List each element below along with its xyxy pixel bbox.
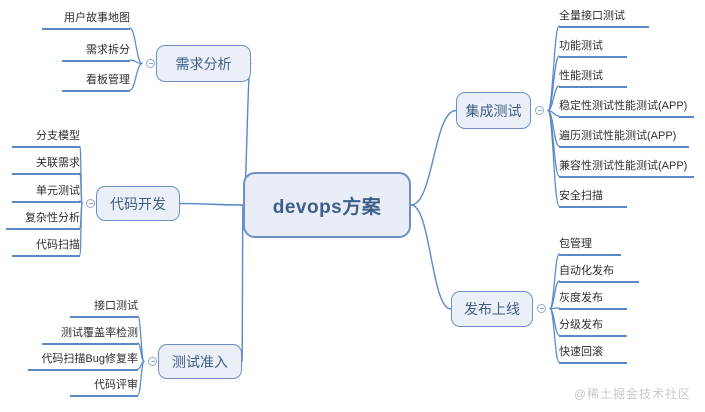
leaf-node-label: 灰度发布	[559, 292, 603, 304]
leaf-node-label: 关联需求	[36, 157, 80, 169]
leaf-node-label: 兼容性测试性能测试(APP)	[559, 160, 687, 172]
leaf-node[interactable]: 功能测试	[559, 40, 627, 58]
collapse-toggle-icon-1[interactable]	[146, 59, 155, 68]
collapse-toggle-icon-4[interactable]	[535, 106, 544, 115]
collapse-toggle-icon-5[interactable]	[537, 304, 546, 313]
leaf-node-label: 代码扫描	[36, 239, 80, 251]
leaf-node-label: 分级发布	[559, 319, 603, 331]
leaf-node-label: 看板管理	[86, 74, 130, 86]
leaf-node-label: 安全扫描	[559, 190, 603, 202]
branch-node-4[interactable]: 集成测试	[456, 92, 531, 129]
leaf-node[interactable]: 代码扫描Bug修复率	[28, 353, 138, 371]
leaf-node-label: 需求拆分	[86, 44, 130, 56]
leaf-node[interactable]: 遍历测试性能测试(APP)	[559, 130, 689, 148]
leaf-node[interactable]: 全量接口测试	[559, 10, 649, 28]
leaf-node-label: 稳定性测试性能测试(APP)	[559, 100, 687, 112]
leaf-node-label: 代码评审	[94, 379, 138, 391]
leaf-node[interactable]: 性能测试	[559, 70, 627, 88]
leaf-node-label: 功能测试	[559, 40, 603, 52]
leaf-node[interactable]: 关联需求	[12, 157, 80, 175]
leaf-node[interactable]: 快速回滚	[559, 346, 627, 364]
branch-node-1[interactable]: 需求分析	[156, 45, 251, 82]
leaf-node[interactable]: 安全扫描	[559, 190, 627, 208]
branch-node-label: 发布上线	[464, 299, 520, 319]
mindmap-canvas: devops方案 需求分析用户故事地图需求拆分看板管理代码开发分支模型关联需求单…	[0, 0, 705, 412]
leaf-node[interactable]: 包管理	[559, 238, 621, 256]
leaf-node[interactable]: 接口测试	[70, 300, 138, 318]
watermark: @稀土掘金技术社区	[574, 385, 691, 402]
leaf-node[interactable]: 需求拆分	[62, 44, 130, 62]
leaf-node[interactable]: 复杂性分析	[6, 212, 80, 230]
leaf-node-label: 代码扫描Bug修复率	[41, 353, 138, 365]
leaf-node-label: 单元测试	[36, 185, 80, 197]
branch-node-label: 测试准入	[172, 352, 228, 372]
leaf-node[interactable]: 代码扫描	[12, 239, 80, 257]
branch-node-5[interactable]: 发布上线	[451, 291, 533, 327]
leaf-node[interactable]: 分级发布	[559, 319, 627, 337]
leaf-node-label: 全量接口测试	[559, 10, 625, 22]
branch-node-3[interactable]: 测试准入	[158, 344, 242, 379]
leaf-node-label: 遍历测试性能测试(APP)	[559, 130, 676, 142]
branch-node-2[interactable]: 代码开发	[96, 186, 180, 221]
leaf-node[interactable]: 稳定性测试性能测试(APP)	[559, 100, 694, 118]
leaf-node[interactable]: 测试覆盖率检测	[42, 327, 138, 345]
root-node-label: devops方案	[273, 192, 382, 219]
leaf-node-label: 快速回滚	[559, 346, 603, 358]
collapse-toggle-icon-2[interactable]	[86, 199, 95, 208]
leaf-node-label: 分支模型	[36, 130, 80, 142]
branch-node-label: 需求分析	[176, 54, 232, 74]
leaf-node-label: 测试覆盖率检测	[61, 327, 138, 339]
root-node[interactable]: devops方案	[243, 172, 411, 238]
leaf-node[interactable]: 看板管理	[62, 74, 130, 92]
leaf-node[interactable]: 自动化发布	[559, 265, 639, 283]
leaf-node-label: 自动化发布	[559, 265, 614, 277]
leaf-node-label: 接口测试	[94, 300, 138, 312]
leaf-node[interactable]: 灰度发布	[559, 292, 627, 310]
leaf-node[interactable]: 分支模型	[12, 130, 80, 148]
leaf-node-label: 用户故事地图	[64, 12, 130, 24]
leaf-node-label: 性能测试	[559, 70, 603, 82]
leaf-node-label: 复杂性分析	[25, 212, 80, 224]
leaf-node[interactable]: 代码评审	[70, 379, 138, 397]
leaf-node-label: 包管理	[559, 238, 592, 250]
branch-node-label: 集成测试	[466, 101, 522, 121]
leaf-node[interactable]: 兼容性测试性能测试(APP)	[559, 160, 694, 178]
branch-node-label: 代码开发	[110, 194, 166, 214]
leaf-node[interactable]: 用户故事地图	[42, 12, 130, 30]
leaf-node[interactable]: 单元测试	[12, 185, 80, 203]
collapse-toggle-icon-3[interactable]	[148, 357, 157, 366]
